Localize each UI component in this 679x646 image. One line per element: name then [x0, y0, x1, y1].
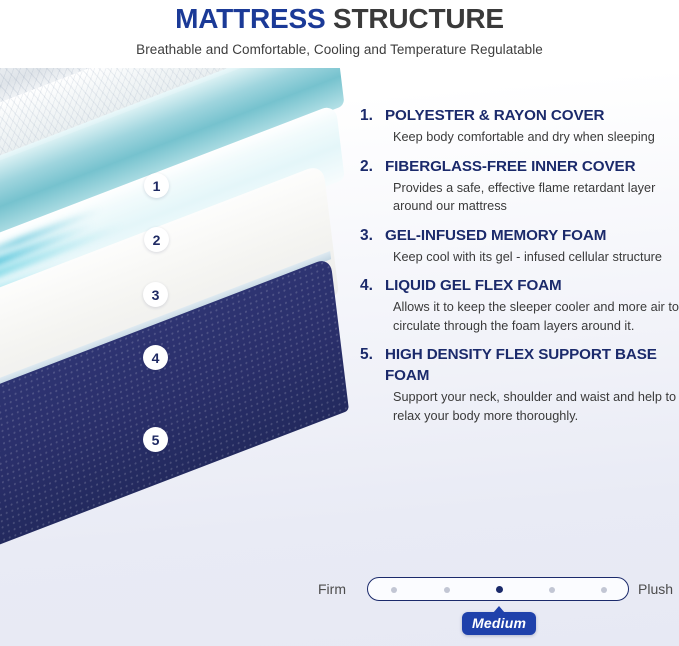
- firmness-step-dot-4[interactable]: [549, 587, 555, 593]
- layer-list-item-description: Keep body comfortable and dry when sleep…: [393, 128, 679, 147]
- layer-marker-3: 3: [143, 282, 168, 307]
- title-accent: MATTRESS: [175, 3, 325, 34]
- header: MATTRESS STRUCTURE Breathable and Comfor…: [0, 0, 679, 68]
- layer-list-item-title: HIGH DENSITY FLEX SUPPORT BASE FOAM: [385, 344, 679, 386]
- title-rest: STRUCTURE: [333, 3, 504, 34]
- layer-list-item-number: 3.: [360, 225, 385, 267]
- layer-list-item-title: FIBERGLASS-FREE INNER COVER: [385, 156, 679, 177]
- layer-list-item-description: Provides a safe, effective flame retarda…: [393, 179, 679, 216]
- layer-list-item-description: Support your neck, shoulder and waist an…: [393, 388, 679, 425]
- layer-marker-5: 5: [143, 427, 168, 452]
- layer-list-item-title: POLYESTER & RAYON COVER: [385, 105, 679, 126]
- firmness-step-dot-5[interactable]: [601, 587, 607, 593]
- firmness-track[interactable]: [367, 577, 629, 601]
- layer-marker-1: 1: [144, 173, 169, 198]
- layer-list-item-title: LIQUID GEL FLEX FOAM: [385, 275, 679, 296]
- layer-marker-2: 2: [144, 227, 169, 252]
- layer-list-item-number: 2.: [360, 156, 385, 216]
- firmness-scale[interactable]: Firm Plush Medium: [318, 578, 658, 638]
- layer-list-item-description: Keep cool with its gel - infused cellula…: [393, 248, 679, 267]
- layer-description-list: 1.POLYESTER & RAYON COVERKeep body comfo…: [360, 105, 679, 434]
- page-subtitle: Breathable and Comfortable, Cooling and …: [0, 42, 679, 57]
- layer-list-item: 3.GEL-INFUSED MEMORY FOAMKeep cool with …: [360, 225, 679, 267]
- firmness-step-dot-1[interactable]: [391, 587, 397, 593]
- layer-list-item: 1.POLYESTER & RAYON COVERKeep body comfo…: [360, 105, 679, 147]
- layer-list-item: 4.LIQUID GEL FLEX FOAMAllows it to keep …: [360, 275, 679, 335]
- firmness-step-dot-3[interactable]: [496, 586, 503, 593]
- page-title: MATTRESS STRUCTURE: [0, 0, 679, 36]
- mattress-illustration: [0, 68, 360, 646]
- layer-list-item-number: 5.: [360, 344, 385, 425]
- firmness-right-label: Plush: [638, 578, 673, 600]
- layer-marker-4: 4: [143, 345, 168, 370]
- layer-list-item-title: GEL-INFUSED MEMORY FOAM: [385, 225, 679, 246]
- layer-list-item: 5.HIGH DENSITY FLEX SUPPORT BASE FOAMSup…: [360, 344, 679, 425]
- layer-list-item: 2.FIBERGLASS-FREE INNER COVERProvides a …: [360, 156, 679, 216]
- layer-list-item-number: 4.: [360, 275, 385, 335]
- firmness-left-label: Firm: [318, 578, 346, 600]
- firmness-step-dot-2[interactable]: [444, 587, 450, 593]
- layer-list-item-number: 1.: [360, 105, 385, 147]
- layer-list-item-description: Allows it to keep the sleeper cooler and…: [393, 298, 679, 335]
- firmness-selected-badge: Medium: [462, 612, 536, 635]
